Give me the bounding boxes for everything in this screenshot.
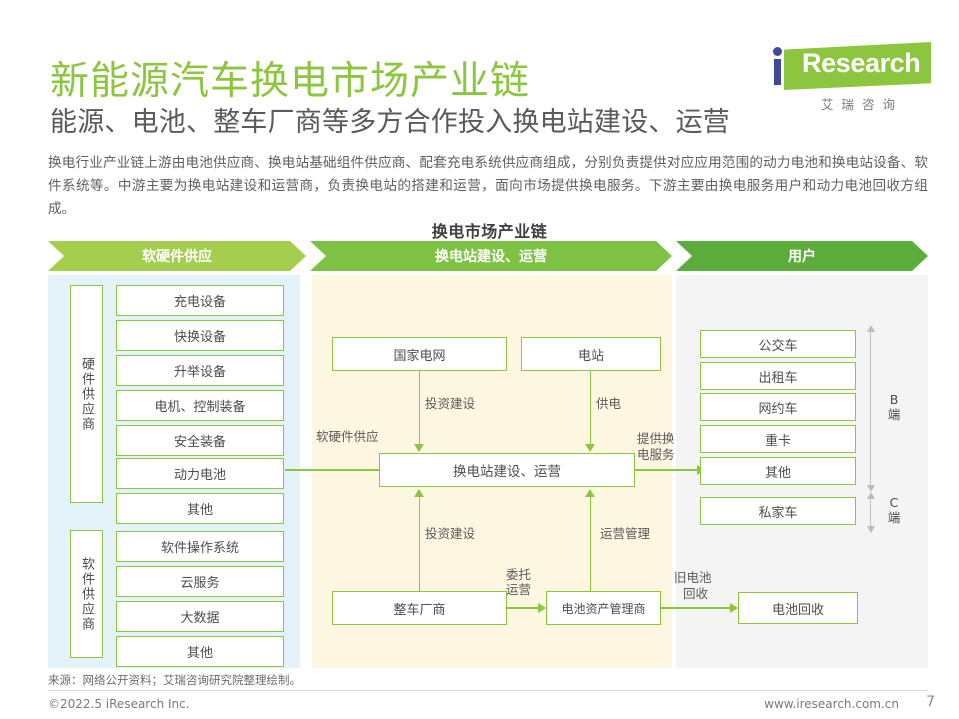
edge-asset-to-recycle-arrow [730, 603, 738, 613]
upstream-item-software-1: 软件操作系统 [116, 531, 284, 562]
edge-label-operation-mgmt: 运营管理 [600, 526, 650, 542]
iresearch-logo: Research 艾瑞咨询 [756, 38, 931, 116]
segment-b-letter: B [890, 392, 899, 407]
upstream-item-hardware-4: 电机、控制装备 [116, 390, 284, 421]
segment-c-letter: C [890, 495, 899, 510]
stage-banner-downstream: 用户 [676, 241, 928, 271]
downstream-user-3: 网约车 [700, 393, 856, 421]
edge-label-power-supply: 供电 [596, 396, 621, 412]
downstream-node-battery-recycle: 电池回收 [738, 592, 858, 624]
upstream-item-hardware-1: 充电设备 [116, 285, 284, 316]
upstream-item-hardware-5: 安全装备 [116, 425, 284, 456]
edge-label-entrust-2: 运营 [506, 582, 531, 598]
segment-b-bracket-arrow-top [867, 325, 875, 332]
edge-label-entrust-1: 委托 [506, 567, 531, 583]
edge-upstream-to-center [285, 469, 380, 471]
edge-label-invest-build-bottom: 投资建设 [425, 526, 475, 542]
edge-label-provide-service-2: 电服务 [637, 447, 675, 463]
midstream-node-oem: 整车厂商 [332, 591, 507, 625]
footer-divider [48, 690, 928, 691]
stage-banner-midstream: 换电站建设、运营 [310, 241, 672, 271]
upstream-item-hardware-6: 动力电池 [116, 458, 284, 489]
edge-label-invest-build-top: 投资建设 [425, 396, 475, 412]
midstream-node-state-grid: 国家电网 [332, 337, 507, 371]
upstream-item-hardware-2: 快换设备 [116, 320, 284, 351]
edge-oem-to-center-arrow [414, 489, 424, 497]
edge-station-to-center [590, 371, 592, 445]
page-subtitle: 能源、电池、整车厂商等多方合作投入换电站建设、运营 [50, 100, 730, 139]
segment-b-bracket-line [870, 330, 871, 485]
edge-oem-to-asset-arrow [538, 603, 546, 613]
segment-c-bracket-arrow-bottom [867, 526, 875, 533]
edge-label-old-battery-2: 回收 [683, 586, 708, 602]
upstream-item-software-3: 大数据 [116, 601, 284, 632]
segment-b-label: B端 [884, 392, 904, 422]
midstream-node-battery-asset-mgr: 电池资产管理商 [546, 591, 661, 625]
chart-title-text: 换电市场产业链 [432, 222, 548, 241]
segment-c-bracket-line [870, 497, 871, 527]
edge-label-provide-service-1: 提供换 [637, 431, 675, 447]
downstream-user-1: 公交车 [700, 330, 856, 358]
segment-b-bracket-arrow-bottom [867, 485, 875, 492]
stage-banners: 软硬件供应 换电站建设、运营 用户 [48, 241, 928, 271]
segment-b-cn: 端 [888, 407, 901, 422]
body-paragraph: 换电行业产业链上游由电池供应商、换电站基础组件供应商、配套充电系统供应商组成，分… [48, 152, 928, 221]
logo-i-stem-icon [774, 59, 781, 85]
upstream-group-software-label: 软件供应商 [70, 530, 103, 658]
edge-label-old-battery-1: 旧电池 [674, 570, 712, 586]
segment-c-cn: 端 [888, 510, 901, 525]
chart-title: 换电市场产业链 [0, 218, 959, 242]
logo-mark: Research [756, 38, 931, 90]
page-number: 7 [926, 694, 935, 710]
midstream-node-swap-station-ops: 换电站建设、运营 [379, 453, 635, 487]
logo-wordmark: Research [802, 48, 920, 79]
slide-page: Research 艾瑞咨询 新能源汽车换电市场产业链 能源、电池、整车厂商等多方… [0, 0, 959, 719]
edge-asset-to-center [590, 496, 592, 591]
segment-c-label: C端 [884, 495, 904, 525]
downstream-user-5: 其他 [700, 457, 856, 485]
source-note: 来源：网络公开资料；艾瑞咨询研究院整理绘制。 [48, 672, 301, 688]
segment-c-bracket-arrow-top [867, 492, 875, 499]
edge-label-supply-hw-sw: 软硬件供应 [316, 429, 379, 445]
upstream-item-software-4: 其他 [116, 636, 284, 667]
upstream-group-hardware-label: 硬件供应商 [70, 285, 103, 503]
footer-website-url: www.iresearch.com.cn [764, 697, 899, 711]
edge-oem-to-center [419, 496, 421, 591]
edge-asset-to-recycle [661, 607, 733, 609]
edge-station-to-center-arrow [585, 444, 595, 452]
edge-asset-to-center-arrow [585, 489, 595, 497]
upstream-item-software-2: 云服务 [116, 566, 284, 597]
midstream-node-power-station: 电站 [521, 337, 661, 371]
page-title: 新能源汽车换电市场产业链 [50, 50, 530, 106]
edge-oem-to-asset [507, 607, 540, 609]
upstream-item-hardware-3: 升举设备 [116, 355, 284, 386]
edge-grid-to-center [419, 371, 421, 445]
downstream-user-6: 私家车 [700, 497, 856, 525]
downstream-user-4: 重卡 [700, 425, 856, 453]
copyright-text: ©2022.5 iResearch Inc. [48, 697, 190, 711]
logo-chinese-name: 艾瑞咨询 [792, 94, 932, 113]
downstream-user-2: 出租车 [700, 362, 856, 390]
upstream-item-hardware-7: 其他 [116, 493, 284, 524]
stage-banner-upstream: 软硬件供应 [48, 241, 306, 271]
edge-grid-to-center-arrow [414, 444, 424, 452]
edge-center-to-downstream [634, 469, 700, 471]
logo-i-dot-icon [773, 47, 782, 56]
